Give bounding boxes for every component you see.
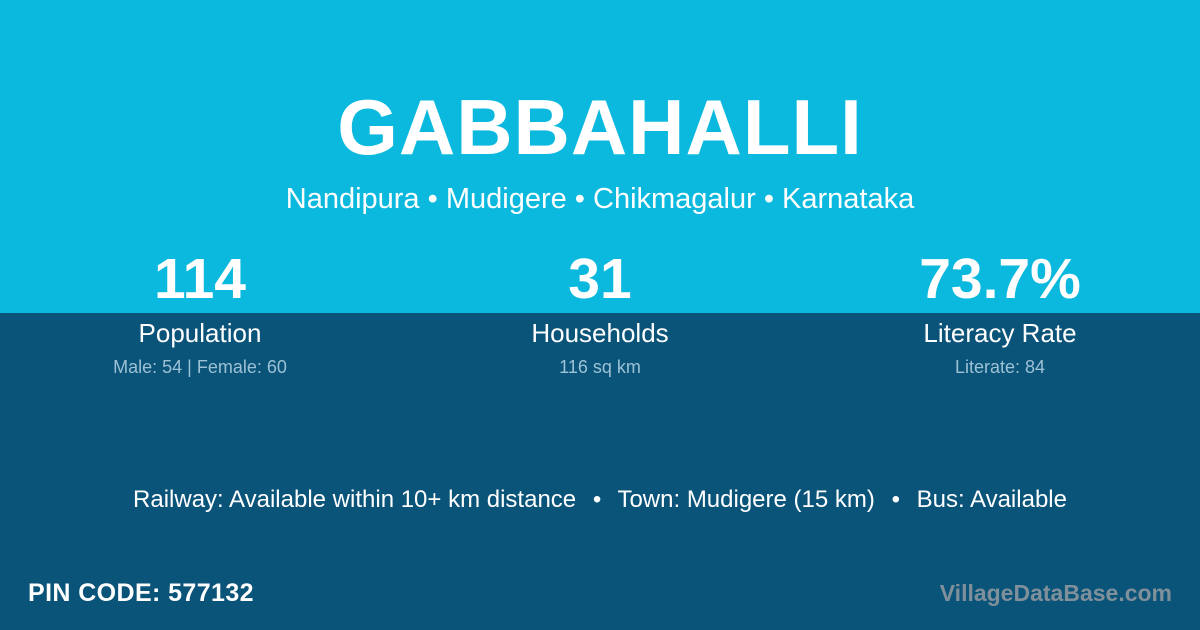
amenity-town: Town: Mudigere (15 km) [617, 486, 874, 513]
site-branding: VillageDataBase.com [940, 579, 1172, 607]
stat-label: Literacy Rate [800, 318, 1200, 349]
stat-label: Households [400, 318, 800, 349]
page-title: GABBAHALLI [0, 84, 1200, 170]
stat-label: Population [0, 318, 400, 349]
breadcrumb: Nandipura • Mudigere • Chikmagalur • Kar… [0, 181, 1200, 217]
stat-literacy-rate: 73.7% Literacy Rate Literate: 84 [800, 246, 1200, 378]
stat-sublabel: Male: 54 | Female: 60 [0, 356, 400, 378]
footer: PIN CODE: 577132 VillageDataBase.com [0, 556, 1200, 630]
stat-sublabel: Literate: 84 [800, 356, 1200, 378]
amenity-railway: Railway: Available within 10+ km distanc… [133, 486, 576, 513]
stat-sublabel: 116 sq km [400, 356, 800, 378]
amenity-separator-icon: • [882, 485, 910, 515]
amenity-separator-icon: • [583, 485, 611, 515]
village-info-card: GABBAHALLI Nandipura • Mudigere • Chikma… [0, 0, 1200, 630]
stats-row: 114 Population Male: 54 | Female: 60 31 … [0, 246, 1200, 378]
amenity-bus: Bus: Available [917, 486, 1067, 513]
stat-value: 114 [0, 246, 400, 313]
amenities-line: Railway: Available within 10+ km distanc… [0, 485, 1200, 515]
stat-population: 114 Population Male: 54 | Female: 60 [0, 246, 400, 378]
stat-households: 31 Households 116 sq km [400, 246, 800, 378]
pin-code: PIN CODE: 577132 [28, 578, 254, 608]
stat-value: 31 [400, 246, 800, 313]
stat-value: 73.7% [800, 246, 1200, 313]
